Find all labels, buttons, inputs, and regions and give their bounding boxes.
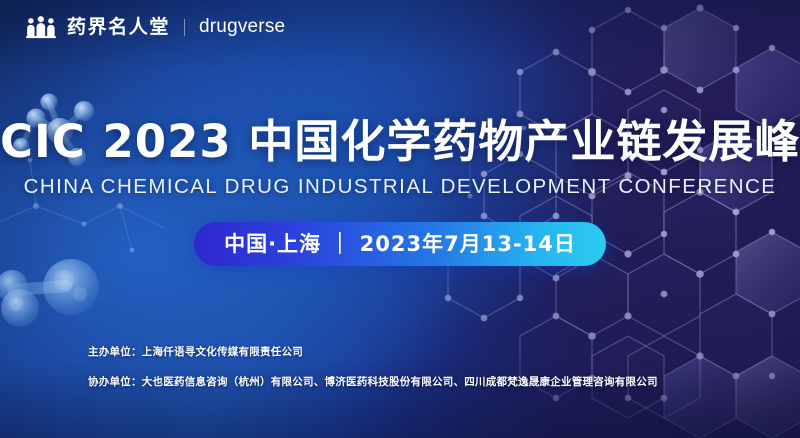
date-venue-badge[interactable]: 中国·上海 ｜ 2023年7月13-14日	[194, 222, 606, 266]
date-venue-text: 中国·上海 ｜ 2023年7月13-14日	[224, 222, 576, 266]
conference-subtitle-en: CHINA CHEMICAL DRUG INDUSTRIAL DEVELOPME…	[0, 174, 800, 200]
organizer-credits: 主办单位：上海仟语寻文化传媒有限责任公司 协办单位：大也医药信息咨询（杭州）有限…	[88, 346, 658, 388]
co-organizer-line: 协办单位：大也医药信息咨询（杭州）有限公司、博济医药科技股份有限公司、四川成都梵…	[88, 376, 658, 388]
brand-logo-row[interactable]: 药界名人堂 drugverse	[26, 12, 285, 42]
conference-banner: 药界名人堂 drugverse CIC 2023 中国化学药物产业链发展峰会 C…	[0, 0, 800, 438]
brand-name-en: drugverse	[199, 15, 285, 39]
brand-name-cn: 药界名人堂	[67, 15, 170, 39]
date-venue-badge-wrap: 中国·上海 ｜ 2023年7月13-14日	[0, 222, 800, 266]
organizer-line: 主办单位：上海仟语寻文化传媒有限责任公司	[88, 346, 658, 358]
brand-separator	[184, 19, 185, 36]
people-group-icon	[26, 15, 56, 39]
conference-title: CIC 2023 中国化学药物产业链发展峰会	[0, 116, 800, 168]
